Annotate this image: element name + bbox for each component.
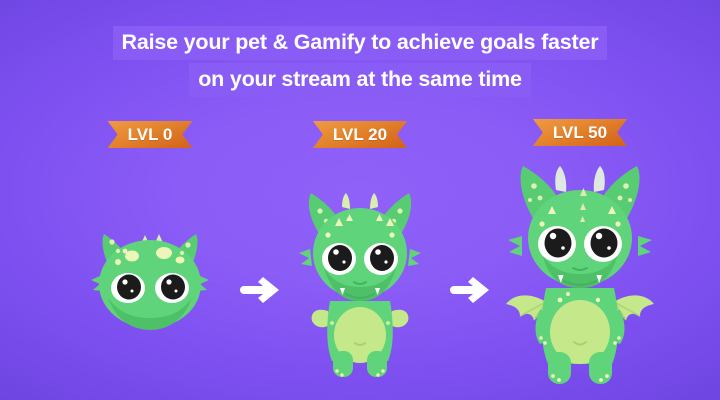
arrow-right-icon <box>236 272 284 308</box>
dragon-small-body-icon <box>280 183 440 383</box>
dragon-full-body-winged-icon <box>490 160 670 390</box>
dragon-head-only-icon <box>70 218 230 348</box>
pet-lvl-50 <box>490 160 670 390</box>
pet-lvl-0 <box>70 218 230 348</box>
badge-lvl-0: LVL 0 <box>70 121 230 148</box>
stage-lvl-0: LVL 0 <box>70 0 230 400</box>
stage-lvl-50: LVL 50 <box>490 0 670 400</box>
level-badge: LVL 20 <box>313 121 407 148</box>
arrow-right-icon <box>446 272 494 308</box>
pet-lvl-20 <box>280 183 440 383</box>
level-badge: LVL 0 <box>108 121 193 148</box>
promo-banner: Raise your pet & Gamify to achieve goals… <box>0 0 720 400</box>
stage-lvl-20: LVL 20 <box>280 0 440 400</box>
badge-lvl-20: LVL 20 <box>280 121 440 148</box>
arrow-1 <box>236 272 284 313</box>
arrow-2 <box>446 272 494 313</box>
level-badge: LVL 50 <box>533 119 627 146</box>
badge-lvl-50: LVL 50 <box>490 119 670 146</box>
